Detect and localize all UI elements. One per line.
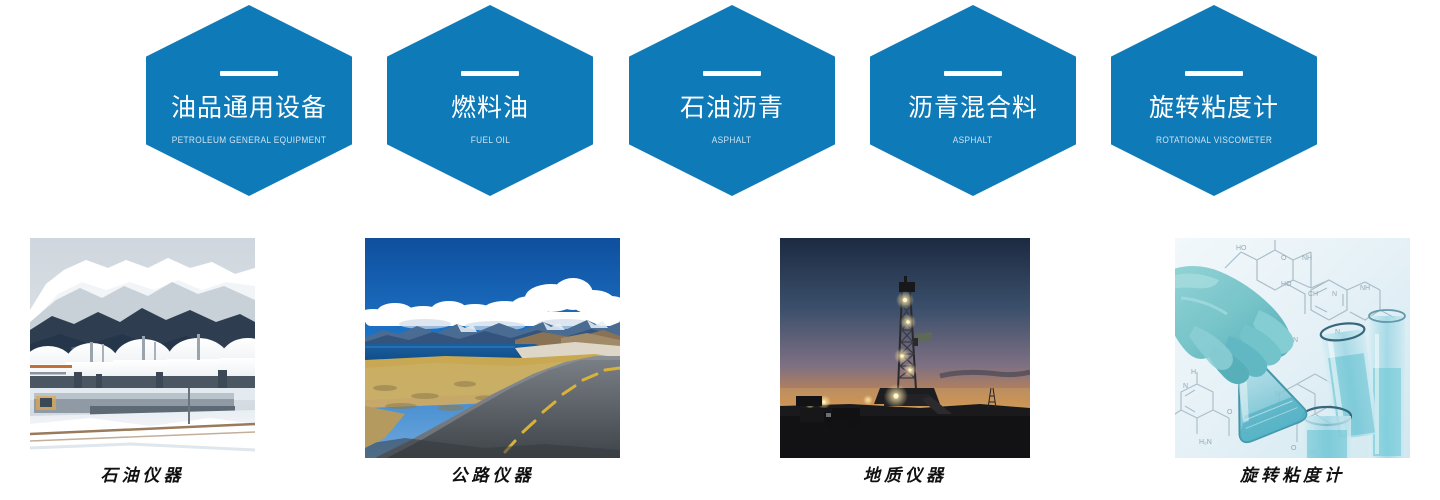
hex-card-petroleum-general-equipment[interactable]: 油品通用设备 PETROLEUM GENERAL EQUIPMENT [146, 5, 352, 196]
hex-subtitle: FUEL OIL [470, 134, 509, 146]
hexagon-content: 燃料油 FUEL OIL [387, 5, 593, 196]
hex-card-rotational-viscometer[interactable]: 旋转粘度计 ROTATIONAL VISCOMETER [1111, 5, 1317, 196]
hex-subtitle: ROTATIONAL VISCOMETER [1156, 134, 1272, 146]
photo-geological-instruments[interactable] [780, 238, 1030, 458]
photo-rotational-viscometer[interactable]: HO O HO NH NH CH N N N N [1175, 238, 1410, 458]
oil-drilling-rig-at-dusk-illustration [780, 238, 1030, 458]
hex-card-asphalt[interactable]: 石油沥青 ASPHALT [629, 5, 835, 196]
divider-line [1185, 71, 1243, 76]
photo-highway-instruments[interactable] [365, 238, 620, 458]
caption-geological-instruments: 地质仪器 [780, 466, 1030, 486]
hex-title: 油品通用设备 [171, 93, 327, 123]
category-hexagon-row: 油品通用设备 PETROLEUM GENERAL EQUIPMENT 燃料油 F… [0, 0, 1440, 210]
hex-title: 旋转粘度计 [1149, 93, 1279, 123]
hex-subtitle: ASPHALT [712, 134, 752, 146]
highway-beside-blue-lake-illustration [365, 238, 620, 458]
snowy-mountain-oil-storage-tank-farm-illustration [30, 238, 255, 458]
hexagon-content: 旋转粘度计 ROTATIONAL VISCOMETER [1111, 5, 1317, 196]
caption-rotational-viscometer: 旋转粘度计 [1175, 466, 1410, 486]
hexagon-content: 石油沥青 ASPHALT [629, 5, 835, 196]
page-root: 油品通用设备 PETROLEUM GENERAL EQUIPMENT 燃料油 F… [0, 0, 1440, 500]
gloved-hand-holding-flask-illustration: HO O HO NH NH CH N N N N [1175, 238, 1410, 458]
caption-petroleum-instruments: 石油仪器 [30, 466, 255, 486]
hex-title: 燃料油 [451, 93, 529, 123]
photo-petroleum-instruments[interactable] [30, 238, 255, 458]
caption-highway-instruments: 公路仪器 [365, 466, 620, 486]
divider-line [703, 71, 761, 76]
divider-line [461, 71, 519, 76]
divider-line [944, 71, 1002, 76]
hex-subtitle: ASPHALT [953, 134, 993, 146]
hex-card-asphalt-mixture[interactable]: 沥青混合料 ASPHALT [870, 5, 1076, 196]
hex-title: 石油沥青 [680, 93, 784, 123]
divider-line [220, 71, 278, 76]
hex-subtitle: PETROLEUM GENERAL EQUIPMENT [172, 134, 327, 146]
hex-title: 沥青混合料 [908, 93, 1038, 123]
hexagon-content: 油品通用设备 PETROLEUM GENERAL EQUIPMENT [146, 5, 352, 196]
hexagon-content: 沥青混合料 ASPHALT [870, 5, 1076, 196]
hex-card-fuel-oil[interactable]: 燃料油 FUEL OIL [387, 5, 593, 196]
